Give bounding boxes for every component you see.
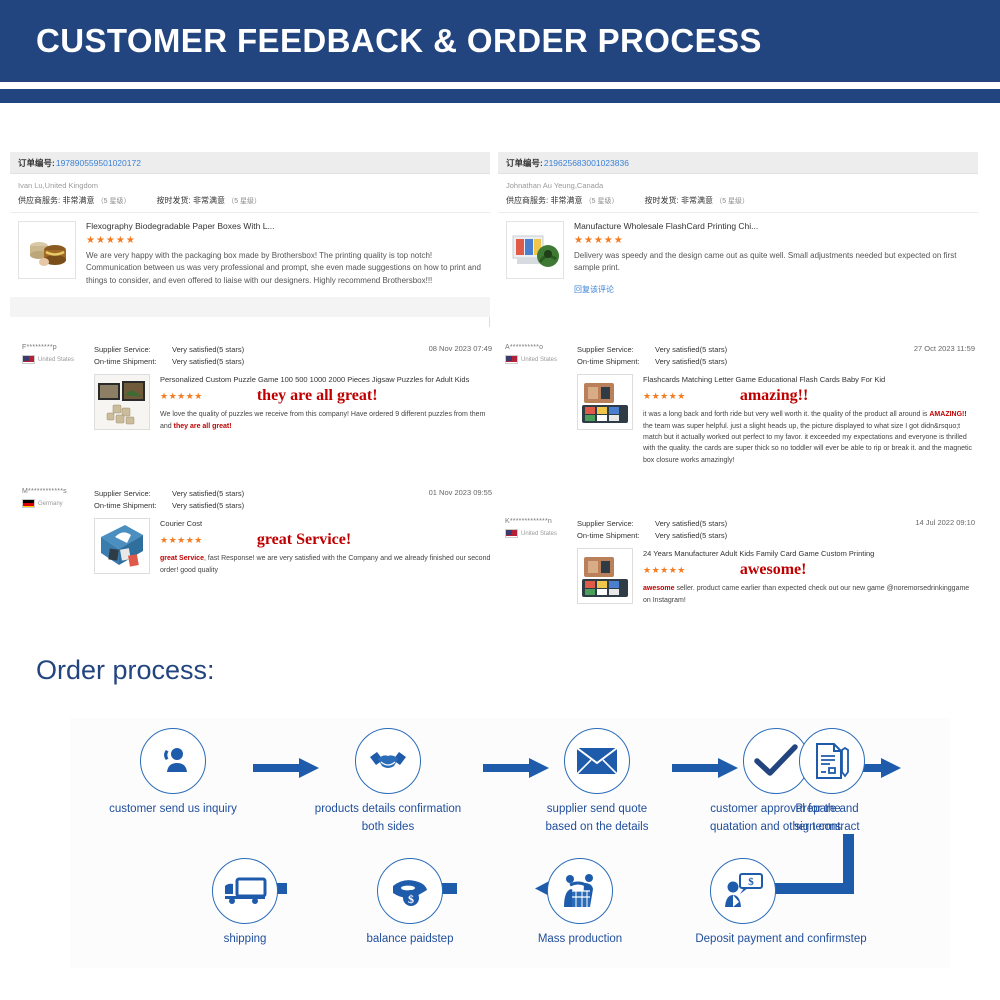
order-process-title: Order process: xyxy=(36,655,215,686)
flow-step-inquiry[interactable]: customer send us inquiry xyxy=(98,728,248,819)
order-number-bar: 订单编号:219625683001023836 xyxy=(498,152,978,174)
order-number-value[interactable]: 197890559501020172 xyxy=(56,158,141,168)
product-title[interactable]: 24 Years Manufacturer Adult Kids Family … xyxy=(643,548,975,559)
flag-us-icon xyxy=(22,355,35,364)
on-time-shipment-value: Very satisfied(5 stars) xyxy=(172,356,429,368)
flow-step-label: products details confirmation both sides xyxy=(298,801,478,837)
review-row-4: K*************n United States Supplier S… xyxy=(505,518,975,606)
rating-summary: 供应商服务: 非常满意 （5 星级） 按时发货: 非常满意 （5 星级） xyxy=(506,195,970,206)
document-pen-icon xyxy=(799,728,865,794)
product-title[interactable]: Personalized Custom Puzzle Game 100 500 … xyxy=(160,374,492,385)
envelope-icon xyxy=(564,728,630,794)
supplier-service-rating: 供应商服务: 非常满意 xyxy=(506,196,582,205)
product-title[interactable]: Manufacture Wholesale FlashCard Printing… xyxy=(574,221,970,231)
supplier-service-note: （5 星级） xyxy=(97,198,131,205)
supplier-service-label: Supplier Service: xyxy=(577,344,655,356)
product-thumbnail-boxes[interactable] xyxy=(18,221,76,279)
flow-step-quote[interactable]: supplier send quote based on the details xyxy=(522,728,672,837)
product-thumbnail-puzzle[interactable] xyxy=(94,374,150,430)
flow-step-balance-paid[interactable]: $ balance paidstep xyxy=(340,858,480,949)
review-text-after: the team was super helpful. just a sligh… xyxy=(643,423,972,464)
service-labels: Supplier Service: On-time Shipment: xyxy=(577,344,655,368)
service-values: Very satisfied(5 stars) Very satisfied(5… xyxy=(655,518,915,542)
flow-step-label: Prepare and sign contract xyxy=(772,801,882,837)
headset-customer-icon xyxy=(140,728,206,794)
service-labels: Supplier Service: On-time Shipment: xyxy=(94,488,172,512)
flow-step-label: balance paidstep xyxy=(340,931,480,949)
on-time-note: （5 星级） xyxy=(715,198,749,205)
flag-us-icon xyxy=(505,529,518,538)
flow-step-label: customer send us inquiry xyxy=(98,801,248,819)
supplier-service-label: Supplier Service: xyxy=(577,518,655,530)
review-header: K*************n United States Supplier S… xyxy=(505,518,975,542)
flow-step-mass-production[interactable]: Mass production xyxy=(510,858,650,949)
reviewer-identity: K*************n United States xyxy=(505,518,577,538)
review-text-highlight: great Service xyxy=(160,555,204,562)
flow-step-shipping[interactable]: shipping xyxy=(175,858,315,949)
flow-step-contract[interactable]: Prepare and sign contract xyxy=(775,728,995,837)
review-date: 08 Nov 2023 07:49 xyxy=(429,344,492,353)
country-name: United States xyxy=(521,357,557,363)
star-rating: ★★★★★ xyxy=(643,565,686,576)
review-header: M************s Germany Supplier Service:… xyxy=(22,488,492,512)
review-text: Delivery was speedy and the design came … xyxy=(574,250,970,275)
order-card-body: Manufacture Wholesale FlashCard Printing… xyxy=(498,213,978,305)
review-date: 27 Oct 2023 11:59 xyxy=(914,344,975,353)
review-row-1: F*********p United States Supplier Servi… xyxy=(22,344,492,432)
star-rating: ★★★★★ xyxy=(160,535,203,546)
order-card-meta: Ivan Lu,United Kingdom 供应商服务: 非常满意 （5 星级… xyxy=(10,174,490,213)
flow-step-label: shipping xyxy=(175,931,315,949)
on-time-shipment-value: Very satisfied(5 stars) xyxy=(655,356,914,368)
review-content: Flashcards Matching Letter Game Educatio… xyxy=(633,374,975,466)
on-time-rating: 按时发货: 非常满意 xyxy=(645,196,713,205)
review-text: We love the quality of puzzles we receiv… xyxy=(160,409,492,432)
review-text-highlight: they are all great! xyxy=(174,423,232,430)
order-number-bar: 订单编号:197890559501020172 xyxy=(10,152,490,174)
review-text: awesome seller. product came earlier tha… xyxy=(643,583,975,606)
order-card-2: 订单编号:219625683001023836 Johnathan Au Yeu… xyxy=(498,152,978,305)
product-thumbnail-flashcards-2[interactable] xyxy=(577,374,633,430)
order-process-flowchart: customer send us inquiry products detail… xyxy=(70,718,950,968)
product-title[interactable]: Courier Cost xyxy=(160,518,492,529)
truck-icon xyxy=(212,858,278,924)
reviewer-country: Germany xyxy=(22,499,94,508)
flow-step-label: Mass production xyxy=(510,931,650,949)
page-banner: CUSTOMER FEEDBACK & ORDER PROCESS xyxy=(0,0,1000,82)
review-date: 01 Nov 2023 09:55 xyxy=(429,488,492,497)
review-body: Courier Cost ★★★★★ great Service! great … xyxy=(22,518,492,576)
rating-row: ★★★★★ awesome! xyxy=(643,562,975,578)
order-card-content: Manufacture Wholesale FlashCard Printing… xyxy=(564,221,970,295)
supplier-service-label: Supplier Service: xyxy=(94,488,172,500)
review-headline: awesome! xyxy=(740,562,807,578)
on-time-shipment-value: Very satisfied(5 stars) xyxy=(172,500,429,512)
service-labels: Supplier Service: On-time Shipment: xyxy=(577,518,655,542)
product-thumbnail-flashcards[interactable] xyxy=(506,221,564,279)
svg-text:$: $ xyxy=(748,876,754,888)
order-card-footer xyxy=(10,297,490,317)
handshake-icon xyxy=(355,728,421,794)
review-headline: they are all great! xyxy=(257,388,378,404)
review-body: Personalized Custom Puzzle Game 100 500 … xyxy=(22,374,492,432)
reviewer-name: A**********o xyxy=(505,344,577,351)
rating-row: ★★★★★ they are all great! xyxy=(160,388,492,404)
reviewer-country: United States xyxy=(22,355,94,364)
review-row-3: M************s Germany Supplier Service:… xyxy=(22,488,492,576)
order-number-label: 订单编号: xyxy=(506,157,543,169)
review-content: Courier Cost ★★★★★ great Service! great … xyxy=(150,518,492,576)
review-headline: amazing!! xyxy=(740,388,808,404)
supplier-service-value: Very satisfied(5 stars) xyxy=(655,518,915,530)
review-text-highlight: awesome xyxy=(643,585,675,592)
review-text-highlight: AMAZING!! xyxy=(929,411,966,418)
flag-us-icon xyxy=(505,355,518,364)
jigsaw-puzzle-image xyxy=(95,375,149,429)
product-thumbnail-cardgame[interactable] xyxy=(577,548,633,604)
on-time-rating: 按时发货: 非常满意 xyxy=(157,196,225,205)
reviewer-name: K*************n xyxy=(505,518,577,525)
on-time-shipment-label: On-time Shipment: xyxy=(94,356,172,368)
factory-worker-icon xyxy=(547,858,613,924)
service-values: Very satisfied(5 stars) Very satisfied(5… xyxy=(172,344,429,368)
review-body: 24 Years Manufacturer Adult Kids Family … xyxy=(505,548,975,606)
banner-accent-strip xyxy=(0,89,1000,103)
country-name: United States xyxy=(521,531,557,537)
review-headline: great Service! xyxy=(257,532,351,548)
review-header: A**********o United States Supplier Serv… xyxy=(505,344,975,368)
product-title[interactable]: Flexography Biodegradable Paper Boxes Wi… xyxy=(86,221,482,231)
star-rating: ★★★★★ xyxy=(160,391,203,402)
review-row-2: A**********o United States Supplier Serv… xyxy=(505,344,975,466)
on-time-shipment-label: On-time Shipment: xyxy=(94,500,172,512)
star-rating: ★★★★★ xyxy=(86,235,482,246)
on-time-note: （5 星级） xyxy=(227,198,261,205)
review-content: Personalized Custom Puzzle Game 100 500 … xyxy=(150,374,492,432)
order-number-label: 订单编号: xyxy=(18,157,55,169)
reviewer-name: F*********p xyxy=(22,344,94,351)
product-thumbnail-courier[interactable] xyxy=(94,518,150,574)
star-rating: ★★★★★ xyxy=(574,235,970,246)
reviewer-identity: F*********p United States xyxy=(22,344,94,364)
rating-summary: 供应商服务: 非常满意 （5 星级） 按时发货: 非常满意 （5 星级） xyxy=(18,195,482,206)
supplier-service-label: Supplier Service: xyxy=(94,344,172,356)
order-cards-row: 订单编号:197890559501020172 Ivan Lu,United K… xyxy=(0,152,1000,327)
reviewer-identity: A**********o United States xyxy=(505,344,577,364)
supplier-service-value: Very satisfied(5 stars) xyxy=(172,344,429,356)
rating-row: ★★★★★ great Service! xyxy=(160,532,492,548)
review-text: We are very happy with the packaging box… xyxy=(86,250,482,287)
supplier-service-value: Very satisfied(5 stars) xyxy=(655,344,914,356)
reviewer-name: M************s xyxy=(22,488,94,495)
flow-step-confirmation[interactable]: products details confirmation both sides xyxy=(298,728,478,837)
person-dollar-chat-icon: $ xyxy=(710,858,776,924)
on-time-shipment-label: On-time Shipment: xyxy=(577,356,655,368)
reviewer-country: United States xyxy=(505,355,577,364)
order-card-body: Flexography Biodegradable Paper Boxes Wi… xyxy=(10,213,490,297)
supplier-service-rating: 供应商服务: 非常满意 xyxy=(18,196,94,205)
hand-money-icon: $ xyxy=(377,858,443,924)
product-title[interactable]: Flashcards Matching Letter Game Educatio… xyxy=(643,374,975,385)
supplier-service-value: Very satisfied(5 stars) xyxy=(172,488,429,500)
flashcard-box-image xyxy=(507,222,563,278)
flag-de-icon xyxy=(22,499,35,508)
flash-cards-set-image xyxy=(578,375,632,429)
buyer-name: Johnathan Au Yeung,Canada xyxy=(506,181,970,190)
reply-review-link[interactable]: 回复该评论 xyxy=(574,284,970,295)
country-name: Germany xyxy=(38,501,63,507)
order-card-1: 订单编号:197890559501020172 Ivan Lu,United K… xyxy=(10,152,490,317)
on-time-shipment-value: Very satisfied(5 stars) xyxy=(655,530,915,542)
reviewer-identity: M************s Germany xyxy=(22,488,94,508)
order-card-meta: Johnathan Au Yeung,Canada 供应商服务: 非常满意 （5… xyxy=(498,174,978,213)
reviewer-country: United States xyxy=(505,529,577,538)
flow-step-deposit[interactable]: $ Deposit payment and confirmstep xyxy=(670,858,920,949)
on-time-shipment-label: On-time Shipment: xyxy=(577,530,655,542)
service-values: Very satisfied(5 stars) Very satisfied(5… xyxy=(655,344,914,368)
page-title: CUSTOMER FEEDBACK & ORDER PROCESS xyxy=(0,22,762,60)
rating-row: ★★★★★ amazing!! xyxy=(643,388,975,404)
flow-step-label: supplier send quote based on the details xyxy=(522,801,672,837)
review-date: 14 Jul 2022 09:10 xyxy=(915,518,975,527)
review-text-before: it was a long back and forth ride but ve… xyxy=(643,411,929,418)
service-values: Very satisfied(5 stars) Very satisfied(5… xyxy=(172,488,429,512)
review-text: great Service, fast Response! we are ver… xyxy=(160,553,492,576)
round-gift-boxes-image xyxy=(19,222,75,278)
svg-text:$: $ xyxy=(408,892,414,906)
buyer-name: Ivan Lu,United Kingdom xyxy=(18,181,482,190)
service-labels: Supplier Service: On-time Shipment: xyxy=(94,344,172,368)
open-box-cards-image xyxy=(95,519,149,573)
family-card-game-image xyxy=(578,549,632,603)
review-text-after: , fast Response! we are very satisfied w… xyxy=(160,555,490,573)
review-text-after: seller. product came earlier than expect… xyxy=(643,585,969,603)
review-header: F*********p United States Supplier Servi… xyxy=(22,344,492,368)
order-card-content: Flexography Biodegradable Paper Boxes Wi… xyxy=(76,221,482,287)
flow-step-label: Deposit payment and confirmstep xyxy=(656,931,906,949)
supplier-service-note: （5 星级） xyxy=(585,198,619,205)
country-name: United States xyxy=(38,357,74,363)
star-rating: ★★★★★ xyxy=(643,391,686,402)
review-text: it was a long back and forth ride but ve… xyxy=(643,409,975,466)
order-number-value[interactable]: 219625683001023836 xyxy=(544,158,629,168)
review-body: Flashcards Matching Letter Game Educatio… xyxy=(505,374,975,466)
review-content: 24 Years Manufacturer Adult Kids Family … xyxy=(633,548,975,606)
page-root: CUSTOMER FEEDBACK & ORDER PROCESS 订单编号:1… xyxy=(0,0,1000,1000)
